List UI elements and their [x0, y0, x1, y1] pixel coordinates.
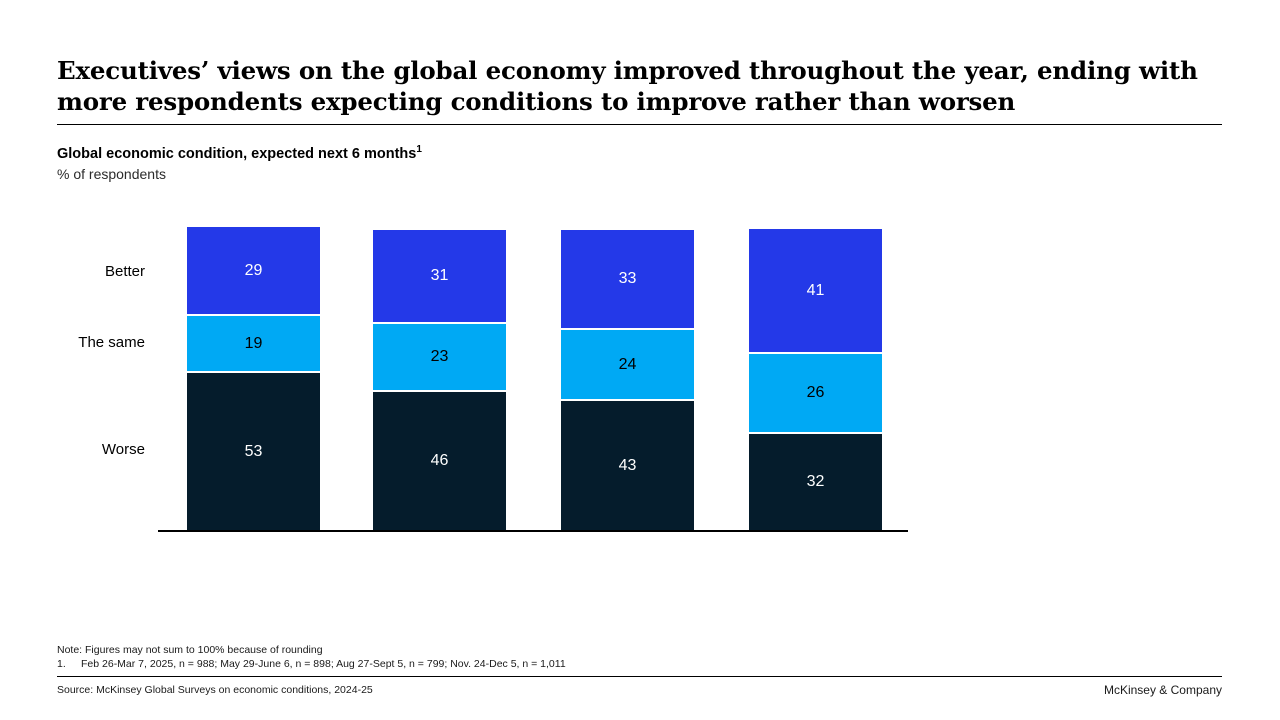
bar-2-segment-worse[interactable]: 46	[373, 392, 506, 530]
row-label-better: Better	[25, 263, 145, 281]
bar-1-value-worse: 53	[245, 444, 263, 460]
bar-3-segment-worse[interactable]: 43	[561, 401, 694, 530]
bar-3-segment-the-same[interactable]: 24	[561, 330, 694, 399]
bar-column-1[interactable]: 29 19 53	[187, 227, 320, 530]
bar-4-value-better: 41	[807, 283, 825, 299]
bar-1-segment-better[interactable]: 29	[187, 227, 320, 314]
bar-column-4[interactable]: 41 26 32	[749, 229, 882, 530]
bar-column-2[interactable]: 31 23 46	[373, 230, 506, 530]
bar-3-segment-better[interactable]: 33	[561, 230, 694, 328]
bar-2-segment-the-same[interactable]: 23	[373, 324, 506, 390]
bar-3-value-the-same: 24	[619, 357, 637, 373]
bar-1-segment-worse[interactable]: 53	[187, 373, 320, 530]
footnote-1: 1. Feb 26-Mar 7, 2025, n = 988; May 29-J…	[57, 657, 1057, 671]
brand-divider	[1096, 676, 1222, 677]
footnote-1-marker: 1.	[57, 657, 81, 671]
bar-1-value-better: 29	[245, 263, 263, 279]
bar-2-value-worse: 46	[431, 453, 449, 469]
bar-2-value-the-same: 23	[431, 349, 449, 365]
stacked-bar-chart: Better The same Worse 29 19 53 31 23 46	[0, 0, 1280, 720]
slide-canvas: Executives’ views on the global economy …	[0, 0, 1280, 720]
footnote-note: Note: Figures may not sum to 100% becaus…	[57, 643, 1057, 657]
source-divider	[57, 676, 1222, 677]
bar-3-value-better: 33	[619, 271, 637, 287]
bar-4-segment-worse[interactable]: 32	[749, 434, 882, 530]
row-label-the-same: The same	[25, 334, 145, 352]
bar-4-segment-better[interactable]: 41	[749, 229, 882, 352]
bar-3-value-worse: 43	[619, 458, 637, 474]
source-label: Source: McKinsey Global Surveys on econo…	[57, 683, 373, 697]
row-label-worse: Worse	[25, 441, 145, 459]
bar-4-segment-the-same[interactable]: 26	[749, 354, 882, 432]
footnote-1-text: Feb 26-Mar 7, 2025, n = 988; May 29-June…	[81, 657, 566, 671]
bar-1-segment-the-same[interactable]: 19	[187, 316, 320, 371]
bar-1-value-the-same: 19	[245, 336, 263, 352]
bar-4-value-worse: 32	[807, 474, 825, 490]
chart-baseline-axis	[158, 530, 908, 532]
bar-column-3[interactable]: 33 24 43	[561, 230, 694, 530]
footnote-block: Note: Figures may not sum to 100% becaus…	[57, 643, 1057, 671]
bar-4-value-the-same: 26	[807, 385, 825, 401]
bar-2-segment-better[interactable]: 31	[373, 230, 506, 322]
brand-logo-text: McKinsey & Company	[1096, 683, 1222, 697]
bar-2-value-better: 31	[431, 268, 449, 284]
